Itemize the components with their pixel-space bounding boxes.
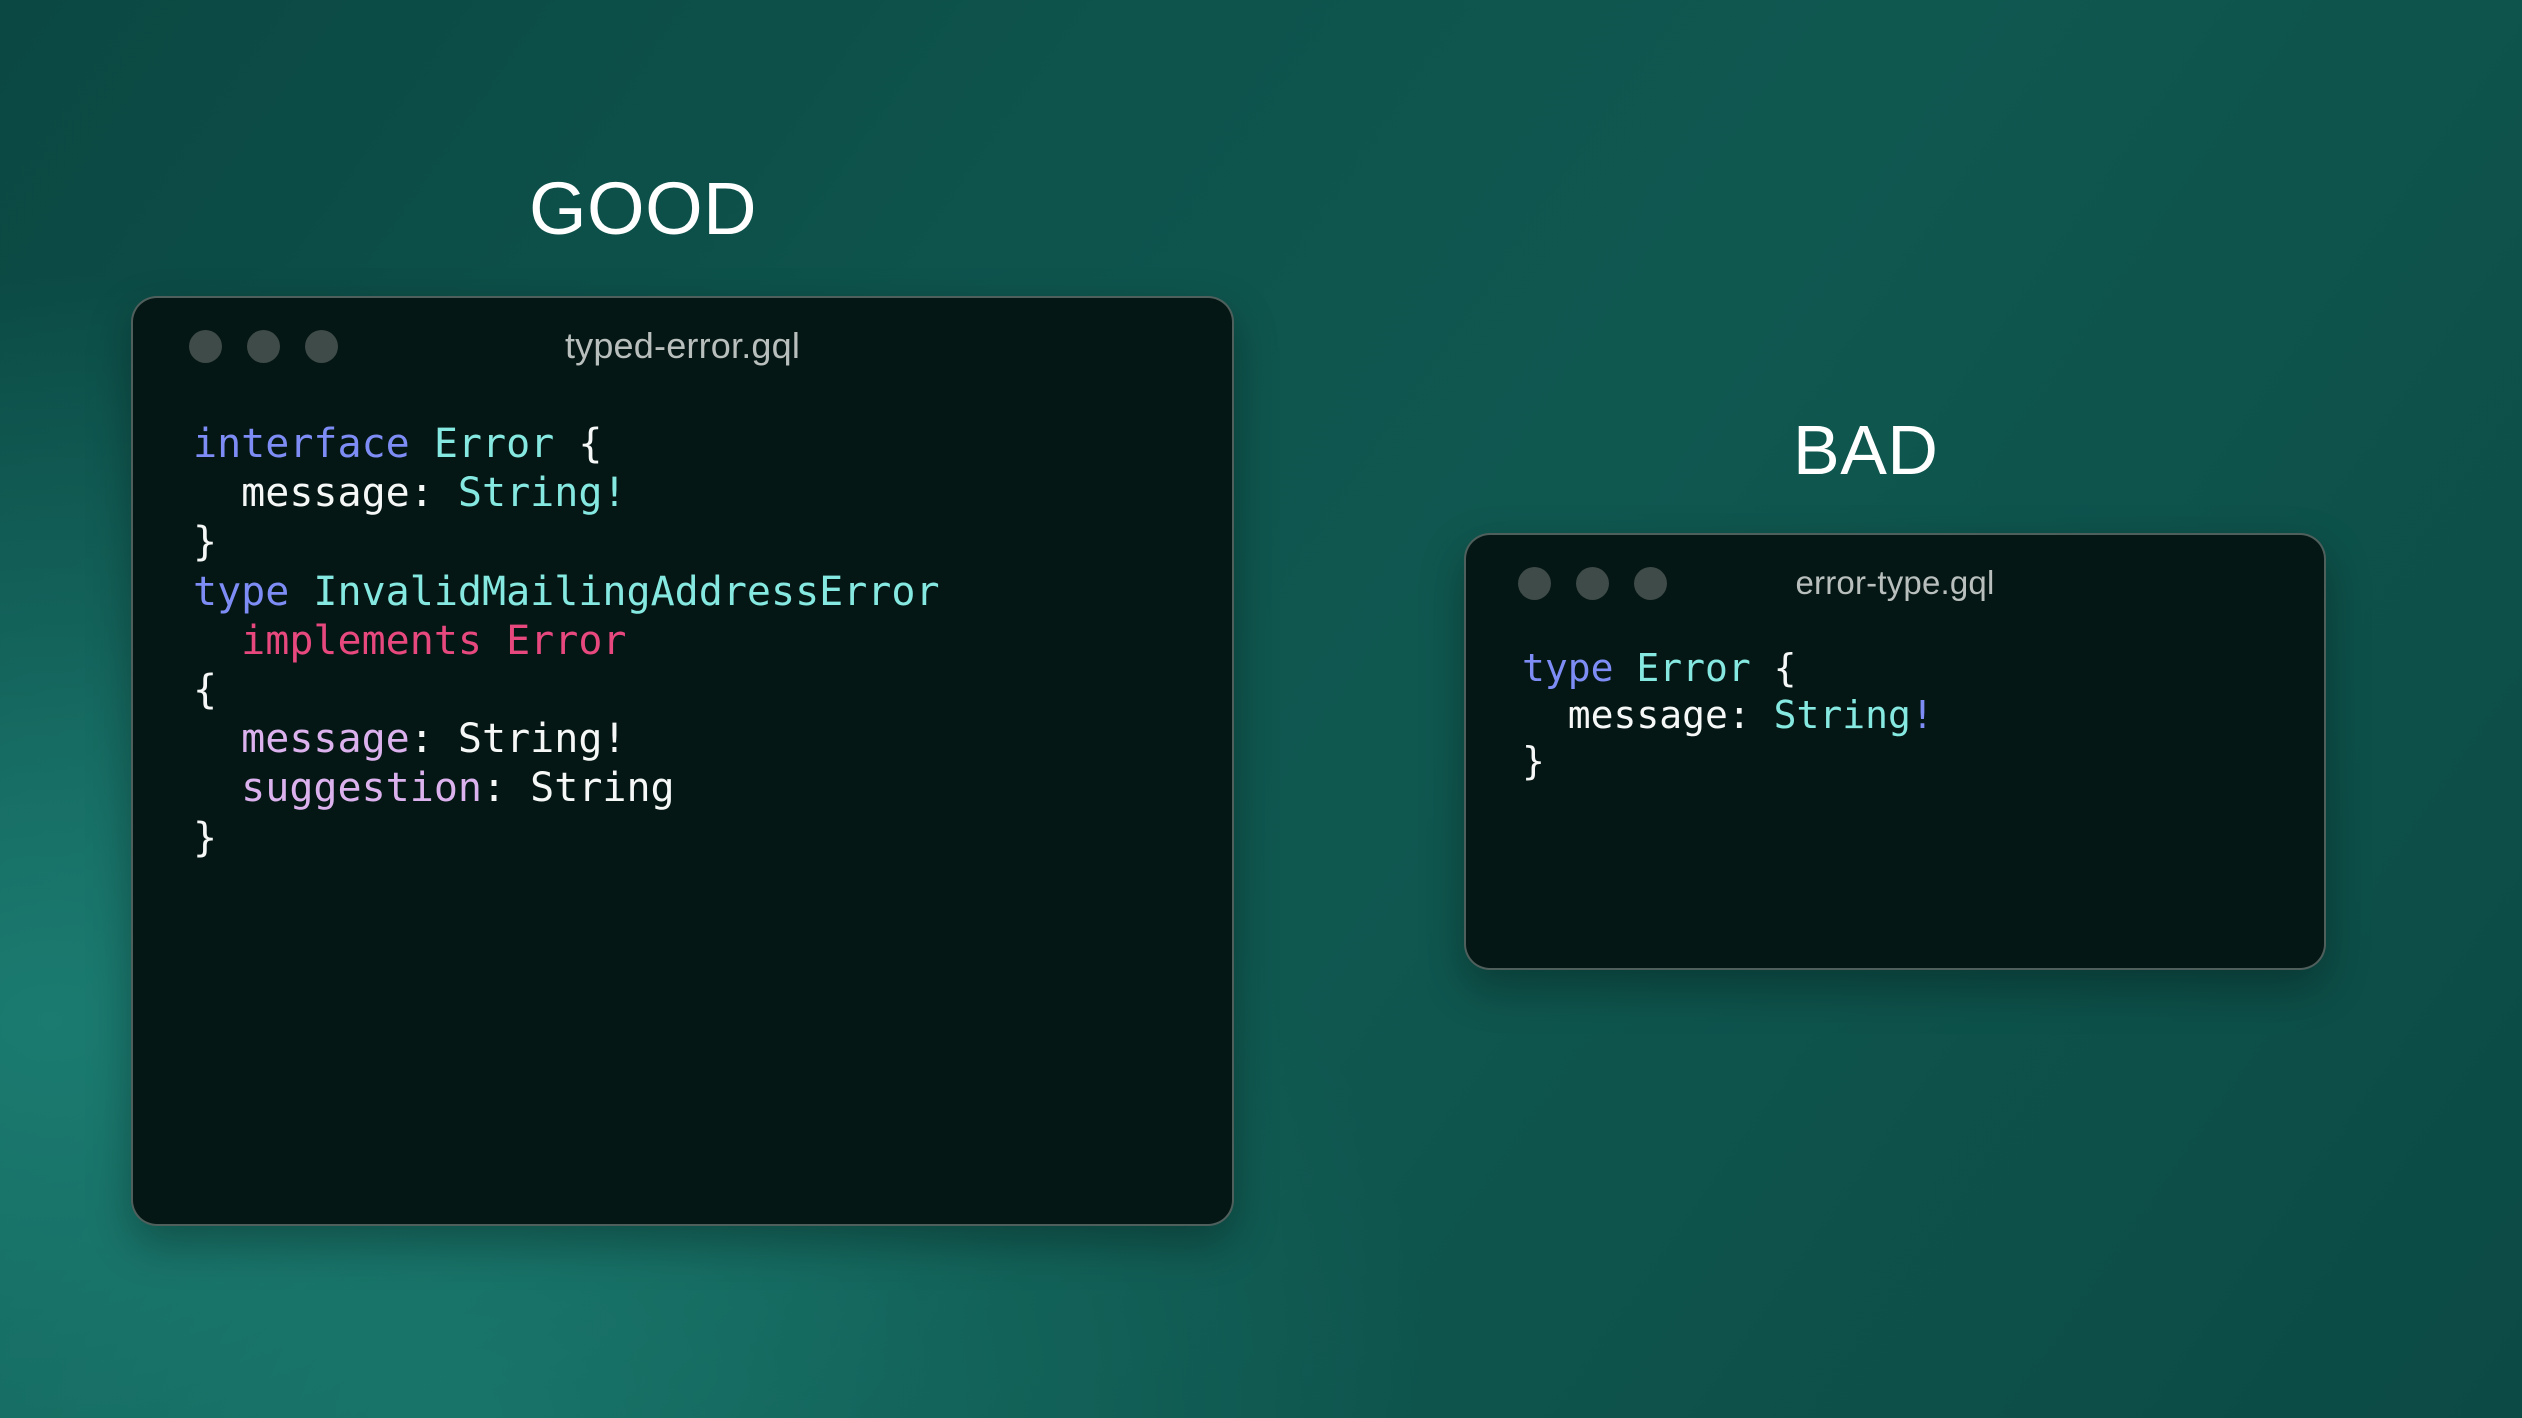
code-token-field: message [193, 470, 410, 516]
code-token-keyword: type [1522, 646, 1636, 690]
code-token-type: String! [458, 470, 627, 516]
window-close-dot-icon[interactable] [1518, 567, 1551, 600]
code-token-type: Error [1636, 646, 1773, 690]
code-token-punctuation: : [1728, 693, 1774, 737]
bad-code-window: error-type.gql type Error { message: Str… [1464, 533, 2326, 970]
code-line: implements Error [193, 617, 1232, 666]
code-token-field: message [193, 716, 410, 762]
good-traffic-lights [189, 330, 338, 363]
bad-traffic-lights [1518, 567, 1667, 600]
code-token-type: : String! [410, 716, 627, 762]
good-code-block: interface Error { message: String!}type … [133, 394, 1232, 863]
code-line: suggestion: String [193, 764, 1232, 813]
window-close-dot-icon[interactable] [189, 330, 222, 363]
window-minimize-dot-icon[interactable] [1576, 567, 1609, 600]
code-token-type: : String [482, 765, 675, 811]
code-token-nonnull: ! [1911, 693, 1934, 737]
window-maximize-dot-icon[interactable] [305, 330, 338, 363]
code-token-punctuation: : [410, 470, 458, 516]
bad-window-titlebar: error-type.gql [1466, 535, 2324, 631]
code-token-keyword: type [193, 569, 313, 615]
code-token-punctuation: { [1774, 646, 1797, 690]
poster-canvas: GOOD typed-error.gql interface Error { m… [0, 0, 2522, 1418]
good-heading: GOOD [529, 172, 757, 246]
code-token-type: Error [434, 421, 579, 467]
bad-code-block: type Error { message: String!} [1466, 631, 2324, 785]
code-line: } [1522, 738, 2324, 785]
window-minimize-dot-icon[interactable] [247, 330, 280, 363]
good-window-titlebar: typed-error.gql [133, 298, 1232, 394]
window-maximize-dot-icon[interactable] [1634, 567, 1667, 600]
code-line: message: String! [193, 469, 1232, 518]
code-line: type Error { [1522, 645, 2324, 692]
code-token-field: message [1522, 693, 1728, 737]
code-token-field: suggestion [193, 765, 482, 811]
code-line: message: String! [1522, 692, 2324, 739]
code-token-type: InvalidMailingAddressError [313, 569, 939, 615]
code-line: { [193, 666, 1232, 715]
code-line: } [193, 814, 1232, 863]
code-token-punctuation: } [1522, 739, 1545, 783]
code-line: } [193, 518, 1232, 567]
bad-heading: BAD [1793, 415, 1938, 485]
code-token-type: String [1774, 693, 1911, 737]
code-token-punctuation: } [193, 815, 217, 861]
good-code-window: typed-error.gql interface Error { messag… [131, 296, 1234, 1226]
code-line: message: String! [193, 715, 1232, 764]
code-line: type InvalidMailingAddressError [193, 568, 1232, 617]
code-token-punctuation: { [193, 667, 217, 713]
code-token-implements: implements Error [193, 618, 626, 664]
code-line: interface Error { [193, 420, 1232, 469]
code-token-punctuation: } [193, 519, 217, 565]
code-token-keyword: interface [193, 421, 434, 467]
code-token-punctuation: { [578, 421, 602, 467]
